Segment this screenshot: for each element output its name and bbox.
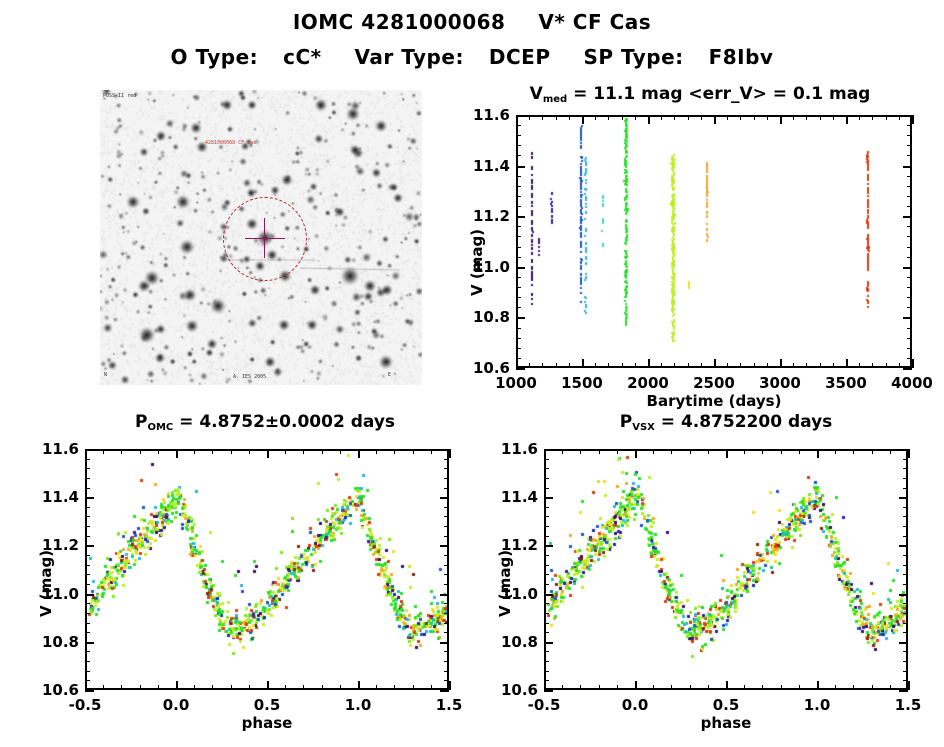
phase-omc-plot-frame: [85, 449, 449, 690]
phase-omc-xtick-label-1: 0.0: [136, 696, 216, 714]
iomc-id: IOMC 4281000068: [293, 10, 506, 34]
phase-omc-ytick-major-right-0: [440, 690, 449, 692]
phase-omc-xtick-label-3: 1.0: [318, 696, 398, 714]
sky-target-annotation: 4281000068 CF Cas: [205, 140, 256, 146]
var-type-label: Var Type:: [355, 45, 464, 69]
lightcurve-time-ytick-label-0: 10.6: [460, 359, 510, 377]
phase-vsx-xtick-label-3: 1.0: [777, 696, 857, 714]
lightcurve-time-canvas: [518, 117, 910, 366]
phase-omc-xtick-label-4: 1.5: [409, 696, 489, 714]
lightcurve-time-plot-frame: [516, 115, 912, 368]
page-header: IOMC 4281000068 V* CF Cas O Type: cC* Va…: [0, 10, 944, 69]
dss-finding-chart: POSS-II red 4281000068 CF Cas N A. IES 2…: [100, 90, 422, 385]
sky-corner-label-topleft: POSS-II red: [103, 93, 136, 99]
sp-type-label: SP Type:: [583, 45, 683, 69]
phase-omc-xlabel: phase: [85, 714, 449, 732]
vmed-text: = 11.1 mag <err_V> = 0.1 mag: [567, 84, 870, 104]
lightcurve-time-xtick-major-top-6: [912, 115, 914, 124]
phase-omc-xtick-label-0: -0.5: [45, 696, 125, 714]
phase-vsx-ytick-major-right-0: [899, 690, 908, 692]
phase-vsx-xtick-label-2: 0.5: [686, 696, 766, 714]
phase-vsx-ytick-major-0: [544, 690, 553, 692]
phase-omc-title: POMC = 4.8752±0.0002 days: [85, 412, 445, 433]
lightcurve-time-xtick-label-5: 3500: [806, 374, 886, 392]
target-aperture-circle: [223, 197, 307, 281]
lightcurve-time-xtick-label-0: 1000: [476, 374, 556, 392]
phase-omc-xtick-label-2: 0.5: [227, 696, 307, 714]
lightcurve-time-xtick-label-3: 2500: [674, 374, 754, 392]
var-type-value: DCEP: [489, 45, 551, 69]
lightcurve-time-ytick-label-1: 10.8: [460, 308, 510, 326]
p-omc-text: = 4.8752±0.0002 days: [173, 412, 395, 432]
phase-vsx-xtick-label-4: 1.5: [868, 696, 944, 714]
crosshair-horizontal: [245, 238, 285, 239]
phase-omc-ytick-label-4: 11.4: [29, 488, 79, 506]
p-omc-symbol: P: [135, 412, 147, 432]
phase-vsx-xtick-major-top-4: [908, 449, 910, 458]
phase-vsx-xtick-label-1: 0.0: [595, 696, 675, 714]
lightcurve-time-xtick-label-6: 4000: [872, 374, 944, 392]
lightcurve-time-xtick-label-2: 2000: [608, 374, 688, 392]
phase-vsx-xtick-label-0: -0.5: [504, 696, 584, 714]
vmed-subscript: med: [543, 94, 567, 105]
lightcurve-time-xlabel: Barytime (days): [516, 392, 912, 410]
sp-type-value: F8Ibv: [709, 45, 774, 69]
lightcurve-time-ytick-major-0: [516, 368, 525, 370]
p-vsx-subscript: VSX: [632, 422, 655, 433]
phase-vsx-ytick-label-4: 11.4: [488, 488, 538, 506]
star-name: V* CF Cas: [538, 10, 651, 34]
phase-vsx-xtick-major-4: [908, 681, 910, 690]
p-vsx-symbol: P: [620, 412, 632, 432]
phase-omc-xtick-major-top-4: [449, 449, 451, 458]
phase-vsx-ytick-label-0: 10.6: [488, 681, 538, 699]
page-title: IOMC 4281000068 V* CF Cas: [0, 10, 944, 34]
page-subtitle: O Type: cC* Var Type: DCEP SP Type: F8Ib…: [0, 45, 944, 69]
lightcurve-time-xtick-major-6: [912, 359, 914, 368]
lightcurve-time-title: Vmed = 11.1 mag <err_V> = 0.1 mag: [470, 84, 930, 105]
sky-corner-label-bottomleft: N: [104, 372, 107, 378]
phase-vsx-xlabel: phase: [544, 714, 908, 732]
o-type-value: cC*: [283, 45, 322, 69]
sky-corner-label-bottomright: E: [388, 372, 391, 378]
phase-omc-ytick-label-1: 10.8: [29, 633, 79, 651]
phase-omc-xtick-major-4: [449, 681, 451, 690]
phase-vsx-canvas: [546, 451, 906, 688]
lightcurve-time-ytick-major-right-0: [903, 368, 912, 370]
lightcurve-time-xtick-label-4: 3000: [740, 374, 820, 392]
lightcurve-time-ytick-label-4: 11.4: [460, 157, 510, 175]
phase-vsx-plot-frame: [544, 449, 908, 690]
lightcurve-time-xtick-label-1: 1500: [542, 374, 622, 392]
lightcurve-time-ytick-label-5: 11.6: [460, 106, 510, 124]
phase-omc-ytick-label-5: 11.6: [29, 440, 79, 458]
phase-omc-ylabel: V (mag): [37, 550, 55, 617]
phase-omc-canvas: [87, 451, 447, 688]
o-type-label: O Type:: [171, 45, 259, 69]
lightcurve-time-ytick-label-3: 11.2: [460, 207, 510, 225]
p-omc-subscript: OMC: [147, 422, 173, 433]
lightcurve-time-ylabel: V (mag): [468, 229, 486, 296]
phase-vsx-ylabel: V (mag): [496, 550, 514, 617]
p-vsx-text: = 4.8752200 days: [655, 412, 832, 432]
sky-credit-label: A. IES 2005: [233, 374, 266, 380]
phase-vsx-ytick-label-1: 10.8: [488, 633, 538, 651]
phase-omc-ytick-major-0: [85, 690, 94, 692]
vmed-symbol: V: [530, 84, 543, 104]
phase-vsx-ytick-label-5: 11.6: [488, 440, 538, 458]
phase-vsx-title: PVSX = 4.8752200 days: [544, 412, 908, 433]
phase-omc-ytick-label-0: 10.6: [29, 681, 79, 699]
